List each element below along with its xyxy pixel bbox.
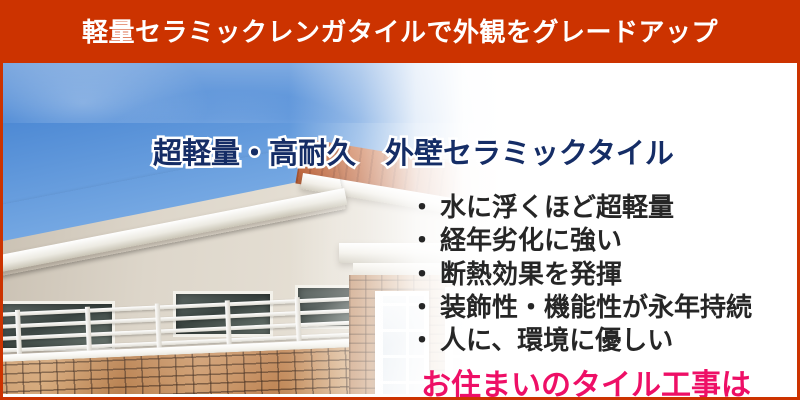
feature-text: 人に、環境に優しい — [440, 325, 673, 355]
feature-text: 水に浮くほど超軽量 — [440, 192, 674, 222]
feature-text: 経年劣化に強い — [440, 225, 622, 255]
bullet-icon: ・ — [409, 225, 435, 255]
ad-banner: 軽量セラミックレンガタイルで外観をグレードアップ — [0, 0, 800, 400]
feature-text: 断熱効果を発揮 — [440, 259, 622, 289]
bullet-icon: ・ — [409, 259, 435, 289]
headline-banner: 軽量セラミックレンガタイルで外観をグレードアップ — [0, 0, 800, 63]
list-item: ・人に、環境に優しい — [409, 324, 752, 357]
cta-line: お住まいのタイル工事は — [421, 371, 751, 400]
bullet-icon: ・ — [409, 192, 435, 222]
list-item: ・水に浮くほど超軽量 — [409, 191, 752, 224]
feature-list: ・水に浮くほど超軽量 ・経年劣化に強い ・断熱効果を発揮 ・装飾性・機能性が永年… — [409, 191, 752, 357]
hero-subtitle: 超軽量・高耐久 外壁セラミックタイル — [153, 139, 674, 171]
list-item: ・経年劣化に強い — [409, 224, 752, 257]
hero-photo-frame: 超軽量・高耐久 外壁セラミックタイル ・水に浮くほど超軽量 ・経年劣化に強い ・… — [0, 63, 800, 400]
list-item: ・装飾性・機能性が永年持続 — [409, 291, 752, 324]
feature-text: 装飾性・機能性が永年持続 — [440, 292, 752, 322]
headline-text: 軽量セラミックレンガタイルで外観をグレードアップ — [0, 19, 800, 45]
bullet-icon: ・ — [409, 325, 435, 355]
list-item: ・断熱効果を発揮 — [409, 258, 752, 291]
bullet-icon: ・ — [409, 292, 435, 322]
